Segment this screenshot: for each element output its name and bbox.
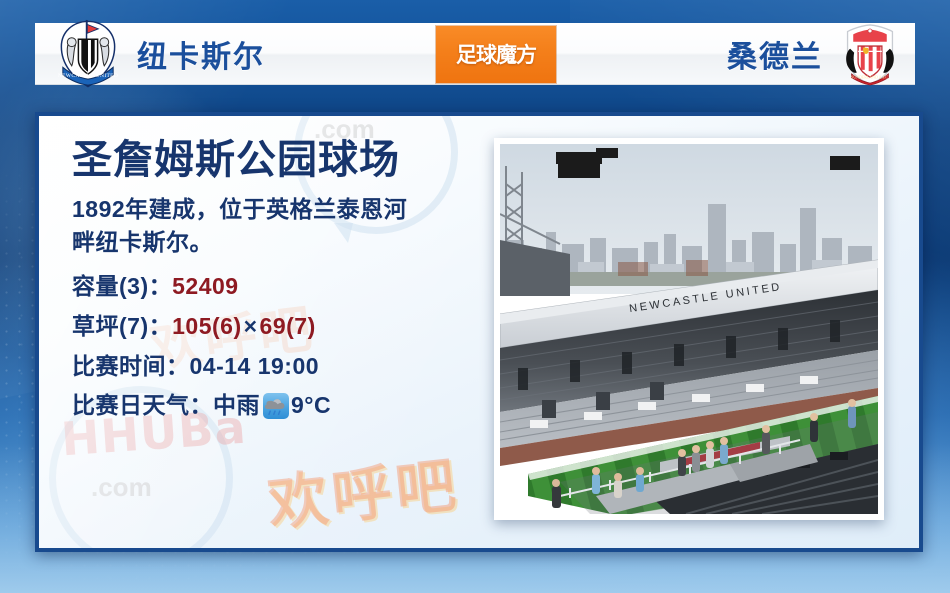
pitch-width: 69(7) <box>260 313 316 339</box>
temperature-value: 9°C <box>291 386 331 426</box>
stadium-description-line2: 畔纽卡斯尔。 <box>72 229 213 255</box>
home-team-name: 纽卡斯尔 <box>137 32 265 76</box>
svg-text:SUNDERLAND A.F.C.: SUNDERLAND A.F.C. <box>851 74 889 79</box>
site-logo-text: 足球魔方 <box>456 39 536 69</box>
stadium-photo-frame[interactable]: NEWCASTLE UNITED <box>494 138 884 520</box>
watermark-domain-bottom: .com <box>91 472 152 503</box>
stadium-info-column: 圣詹姆斯公园球场 1892年建成，位于英格兰泰恩河 畔纽卡斯尔。 容量(3)：5… <box>72 138 492 426</box>
weather-row: 比赛日天气：中雨 9°C <box>72 386 492 426</box>
away-team-name: 桑德兰 <box>727 32 823 76</box>
match-preview-stage: NEWCASTLE UNITED 纽卡斯尔 足球魔方 桑德兰 <box>0 0 950 593</box>
sunderland-crest-icon: SUNDERLAND A.F.C. <box>837 21 903 87</box>
home-team-block[interactable]: NEWCASTLE UNITED 纽卡斯尔 <box>35 24 265 84</box>
match-header-bar: NEWCASTLE UNITED 纽卡斯尔 足球魔方 桑德兰 <box>35 23 915 85</box>
match-time-label: 比赛时间： <box>72 353 190 379</box>
weather-value: 中雨 <box>213 386 260 426</box>
capacity-value: 52409 <box>172 273 238 299</box>
stadium-description: 1892年建成，位于英格兰泰恩河 畔纽卡斯尔。 <box>72 193 492 260</box>
away-team-block[interactable]: 桑德兰 SUNDERLAND A.F.C. <box>727 24 915 84</box>
match-time-value: 04-14 19:00 <box>190 353 320 379</box>
stadium-title: 圣詹姆斯公园球场 <box>72 138 492 183</box>
rain-cloud-icon <box>263 393 289 419</box>
capacity-row: 容量(3)：52409 <box>72 267 492 307</box>
weather-label: 比赛日天气： <box>72 386 213 426</box>
capacity-label: 容量(3)： <box>72 273 172 299</box>
pitch-row: 草坪(7)：105(6)×69(7) <box>72 307 492 347</box>
watermark-cn-brand: 欢呼吧 <box>263 436 463 543</box>
site-logo[interactable]: 足球魔方 <box>436 26 556 83</box>
stadium-photo: NEWCASTLE UNITED <box>500 144 878 514</box>
svg-text:NEWCASTLE UNITED: NEWCASTLE UNITED <box>58 73 118 79</box>
newcastle-united-crest-icon: NEWCASTLE UNITED <box>51 17 125 91</box>
stadium-info-card: .com HHUBa .com 欢呼吧 欢呼吧 圣詹姆斯公园球场 1892年建成… <box>35 112 923 552</box>
pitch-separator: × <box>242 313 260 339</box>
pitch-label: 草坪(7)： <box>72 313 172 339</box>
match-time-row: 比赛时间：04-14 19:00 <box>72 347 492 387</box>
stadium-description-line1: 1892年建成，位于英格兰泰恩河 <box>72 196 407 222</box>
pitch-length: 105(6) <box>172 313 241 339</box>
